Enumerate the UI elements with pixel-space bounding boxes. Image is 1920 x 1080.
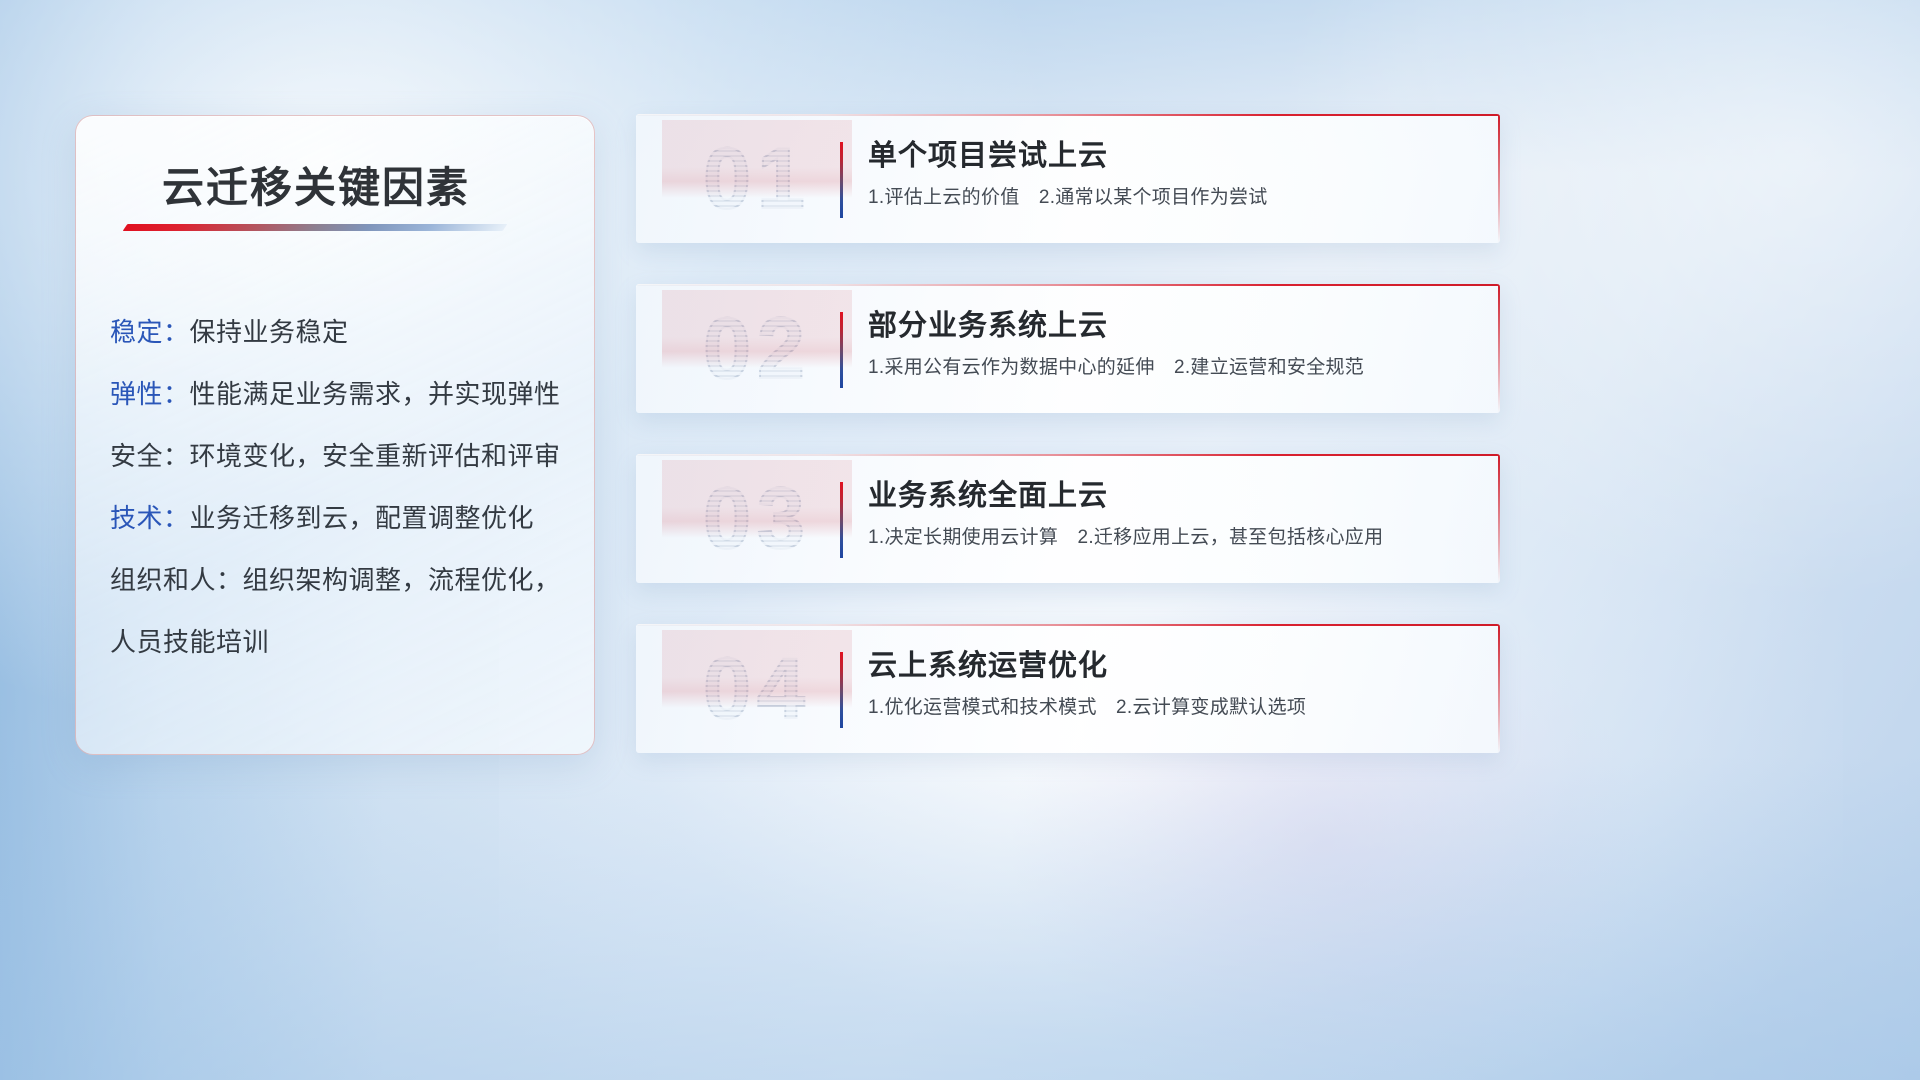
card-top-accent-line	[636, 454, 1500, 456]
migration-stage-cards: 01 单个项目尝试上云 1.评估上云的价值 2.通常以某个项目作为尝试 02 部…	[636, 114, 1500, 794]
page-title: 云迁移关键因素	[162, 154, 470, 215]
card-description: 1.采用公有云作为数据中心的延伸 2.建立运营和安全规范	[868, 354, 1474, 382]
list-item-label: 安全：	[110, 441, 190, 471]
key-factors-panel: 云迁移关键因素 稳定：保持业务稳定 弹性：性能满足业务需求，并实现弹性 安全：环…	[75, 115, 595, 755]
stage-card-03[interactable]: 03 业务系统全面上云 1.决定长期使用云计算 2.迁移应用上云，甚至包括核心应…	[636, 454, 1500, 583]
card-step-number: 03	[662, 460, 852, 578]
list-item-text: 组织架构调整，流程优化，	[243, 565, 561, 595]
list-item-label: 技术：	[110, 503, 190, 533]
card-step-number: 04	[662, 630, 852, 748]
card-top-accent-line	[636, 114, 1500, 116]
list-item-label: 弹性：	[110, 379, 190, 409]
card-right-accent-line	[1498, 114, 1500, 243]
key-factors-list: 稳定：保持业务稳定 弹性：性能满足业务需求，并实现弹性 安全：环境变化，安全重新…	[110, 301, 576, 673]
list-item: 技术：业务迁移到云，配置调整优化	[110, 487, 576, 549]
list-item: 组织和人：组织架构调整，流程优化， 人员技能培训	[110, 549, 576, 673]
card-divider-bar	[840, 312, 843, 388]
card-title: 部分业务系统上云	[868, 304, 1474, 348]
card-right-accent-line	[1498, 624, 1500, 753]
card-right-accent-line	[1498, 284, 1500, 413]
card-top-accent-line	[636, 284, 1500, 286]
card-step-number: 02	[662, 290, 852, 408]
card-right-accent-line	[1498, 454, 1500, 583]
card-title: 单个项目尝试上云	[868, 134, 1474, 178]
slide-stage: 云迁移关键因素 稳定：保持业务稳定 弹性：性能满足业务需求，并实现弹性 安全：环…	[0, 0, 1920, 1080]
list-item: 弹性：性能满足业务需求，并实现弹性	[110, 363, 576, 425]
list-item-label: 组织和人：	[110, 565, 243, 595]
card-description: 1.优化运营模式和技术模式 2.云计算变成默认选项	[868, 694, 1474, 722]
stage-card-02[interactable]: 02 部分业务系统上云 1.采用公有云作为数据中心的延伸 2.建立运营和安全规范	[636, 284, 1500, 413]
card-title: 业务系统全面上云	[868, 474, 1474, 518]
stage-card-04[interactable]: 04 云上系统运营优化 1.优化运营模式和技术模式 2.云计算变成默认选项	[636, 624, 1500, 753]
list-item-text: 保持业务稳定	[190, 317, 349, 347]
list-item-text: 业务迁移到云，配置调整优化	[190, 503, 535, 533]
card-divider-bar	[840, 142, 843, 218]
card-body: 单个项目尝试上云 1.评估上云的价值 2.通常以某个项目作为尝试	[868, 134, 1474, 212]
title-underline-accent	[123, 224, 508, 231]
card-body: 云上系统运营优化 1.优化运营模式和技术模式 2.云计算变成默认选项	[868, 644, 1474, 722]
list-item: 稳定：保持业务稳定	[110, 301, 576, 363]
stage-card-01[interactable]: 01 单个项目尝试上云 1.评估上云的价值 2.通常以某个项目作为尝试	[636, 114, 1500, 243]
card-description: 1.决定长期使用云计算 2.迁移应用上云，甚至包括核心应用	[868, 524, 1474, 552]
card-top-accent-line	[636, 624, 1500, 626]
card-divider-bar	[840, 482, 843, 558]
card-title: 云上系统运营优化	[868, 644, 1474, 688]
list-item-label: 稳定：	[110, 317, 190, 347]
card-divider-bar	[840, 652, 843, 728]
list-item-text: 环境变化，安全重新评估和评审	[190, 441, 561, 471]
list-item-text-continued: 人员技能培训	[110, 611, 576, 673]
list-item-text: 性能满足业务需求，并实现弹性	[190, 379, 561, 409]
card-step-number: 01	[662, 120, 852, 238]
card-body: 业务系统全面上云 1.决定长期使用云计算 2.迁移应用上云，甚至包括核心应用	[868, 474, 1474, 552]
list-item: 安全：环境变化，安全重新评估和评审	[110, 425, 576, 487]
card-description: 1.评估上云的价值 2.通常以某个项目作为尝试	[868, 184, 1474, 212]
card-body: 部分业务系统上云 1.采用公有云作为数据中心的延伸 2.建立运营和安全规范	[868, 304, 1474, 382]
